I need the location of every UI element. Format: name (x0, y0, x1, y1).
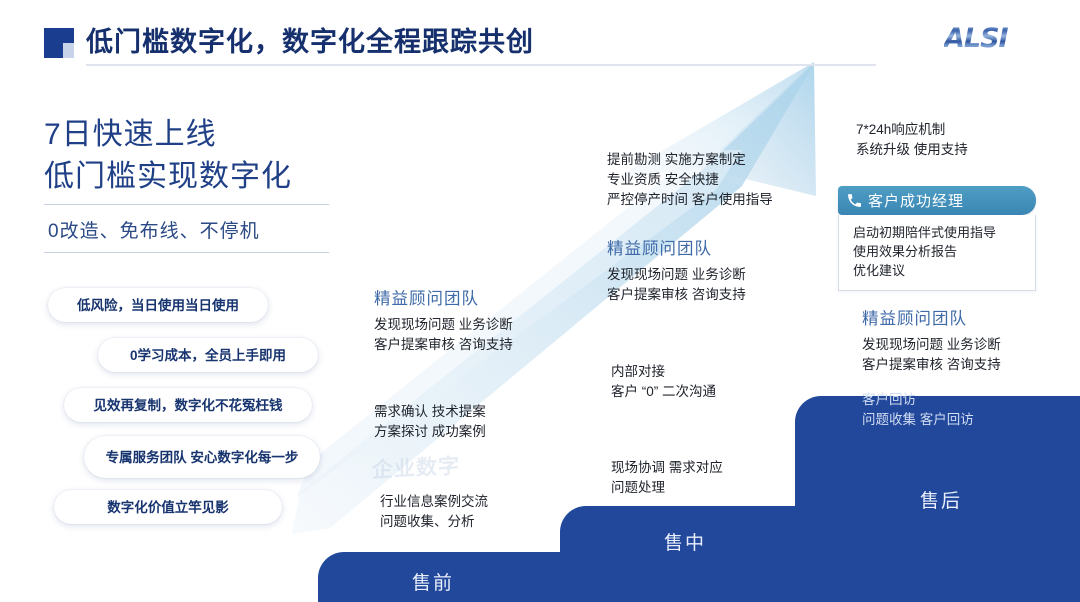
step-label-presale: 售前 (412, 568, 454, 595)
presale-industry-group: 行业信息案例交流 问题收集、分析 (380, 492, 488, 532)
benefit-pill[interactable]: 专属服务团队 安心数字化每一步 (84, 436, 320, 478)
group-heading: 精益顾问团队 (374, 285, 513, 309)
benefit-pill[interactable]: 低风险，当日使用当日使用 (48, 288, 268, 322)
card-line: 启动初期陪伴式使用指导 (853, 223, 1025, 242)
hero-line-1: 7日快速上线 (44, 114, 344, 156)
midsale-onsite-group: 现场协调 需求对应 问题处理 (611, 458, 723, 498)
hero-divider-bottom (44, 252, 329, 253)
card-line: 使用效果分析报告 (853, 242, 1025, 261)
group-line: 行业信息案例交流 (380, 492, 488, 512)
slide-canvas: 企业数字 售前 售中 售后 低门槛数字化，数字化全程跟踪共创 ALSI 7日快速… (0, 0, 1080, 602)
card-header: 客户成功经理 (838, 186, 1036, 215)
midsale-consultant-group: 精益顾问团队 发现现场问题 业务诊断 客户提案审核 咨询支持 (607, 235, 746, 305)
group-line: 问题收集、分析 (380, 512, 488, 532)
corner-flag-icon (44, 28, 74, 58)
presale-consultant-group: 精益顾问团队 发现现场问题 业务诊断 客户提案审核 咨询支持 (374, 285, 513, 355)
header-divider (86, 64, 876, 66)
group-line: 系统升级 使用支持 (856, 140, 968, 160)
group-line: 现场协调 需求对应 (611, 458, 723, 478)
group-line: 发现现场问题 业务诊断 (862, 335, 1001, 355)
midsale-survey-group: 提前勘测 实施方案制定 专业资质 安全快捷 严控停产时间 客户使用指导 (607, 150, 773, 210)
group-line: 客户提案审核 咨询支持 (374, 335, 513, 355)
card-line: 优化建议 (853, 261, 1025, 280)
benefit-pill[interactable]: 数字化价值立竿见影 (54, 490, 282, 524)
group-heading: 客户回访 (862, 390, 974, 410)
step-label-midsale: 售中 (664, 528, 706, 555)
group-line: 内部对接 (611, 362, 716, 382)
slide-header: 低门槛数字化，数字化全程跟踪共创 ALSI (0, 0, 1080, 70)
group-line: 客户提案审核 咨询支持 (862, 355, 1001, 375)
group-line: 提前勘测 实施方案制定 (607, 150, 773, 170)
group-line: 发现现场问题 业务诊断 (607, 265, 746, 285)
alsi-logo: ALSI (944, 24, 1052, 54)
customer-success-manager-card: 客户成功经理 启动初期陪伴式使用指导 使用效果分析报告 优化建议 (838, 186, 1036, 291)
presale-requirements-group: 需求确认 技术提案 方案探讨 成功案例 (374, 402, 486, 442)
postsale-followup-group: 客户回访 问题收集 客户回访 (862, 390, 974, 430)
phone-icon (846, 192, 863, 209)
benefit-pill[interactable]: 0学习成本，全员上手即用 (98, 338, 318, 372)
group-line: 发现现场问题 业务诊断 (374, 315, 513, 335)
benefit-pill[interactable]: 见效再复制，数字化不花冤枉钱 (64, 388, 312, 422)
hero-line-2: 低门槛实现数字化 (44, 156, 344, 198)
group-line: 问题收集 客户回访 (862, 410, 974, 430)
page-title: 低门槛数字化，数字化全程跟踪共创 (86, 20, 534, 59)
midsale-internal-group: 内部对接 客户 “0” 二次沟通 (611, 362, 716, 402)
group-line: 客户 “0” 二次沟通 (611, 382, 716, 402)
postsale-consultant-group: 精益顾问团队 发现现场问题 业务诊断 客户提案审核 咨询支持 (862, 305, 1001, 375)
postsale-support-group: 7*24h响应机制 系统升级 使用支持 (856, 120, 968, 160)
group-line: 专业资质 安全快捷 (607, 170, 773, 190)
step-label-postsale: 售后 (920, 486, 962, 513)
card-body: 启动初期陪伴式使用指导 使用效果分析报告 优化建议 (838, 215, 1036, 291)
group-line: 7*24h响应机制 (856, 120, 968, 140)
group-line: 严控停产时间 客户使用指导 (607, 190, 773, 210)
group-heading: 精益顾问团队 (607, 235, 746, 259)
group-heading: 精益顾问团队 (862, 305, 1001, 329)
group-line: 客户提案审核 咨询支持 (607, 285, 746, 305)
group-line: 问题处理 (611, 478, 723, 498)
group-line: 需求确认 技术提案 (374, 402, 486, 422)
group-line: 方案探讨 成功案例 (374, 422, 486, 442)
hero-subtitle: 0改造、免布线、不停机 (44, 205, 344, 252)
card-title: 客户成功经理 (868, 190, 964, 211)
hero-block: 7日快速上线 低门槛实现数字化 0改造、免布线、不停机 (44, 114, 344, 253)
logo-text: ALSI (944, 24, 1052, 54)
